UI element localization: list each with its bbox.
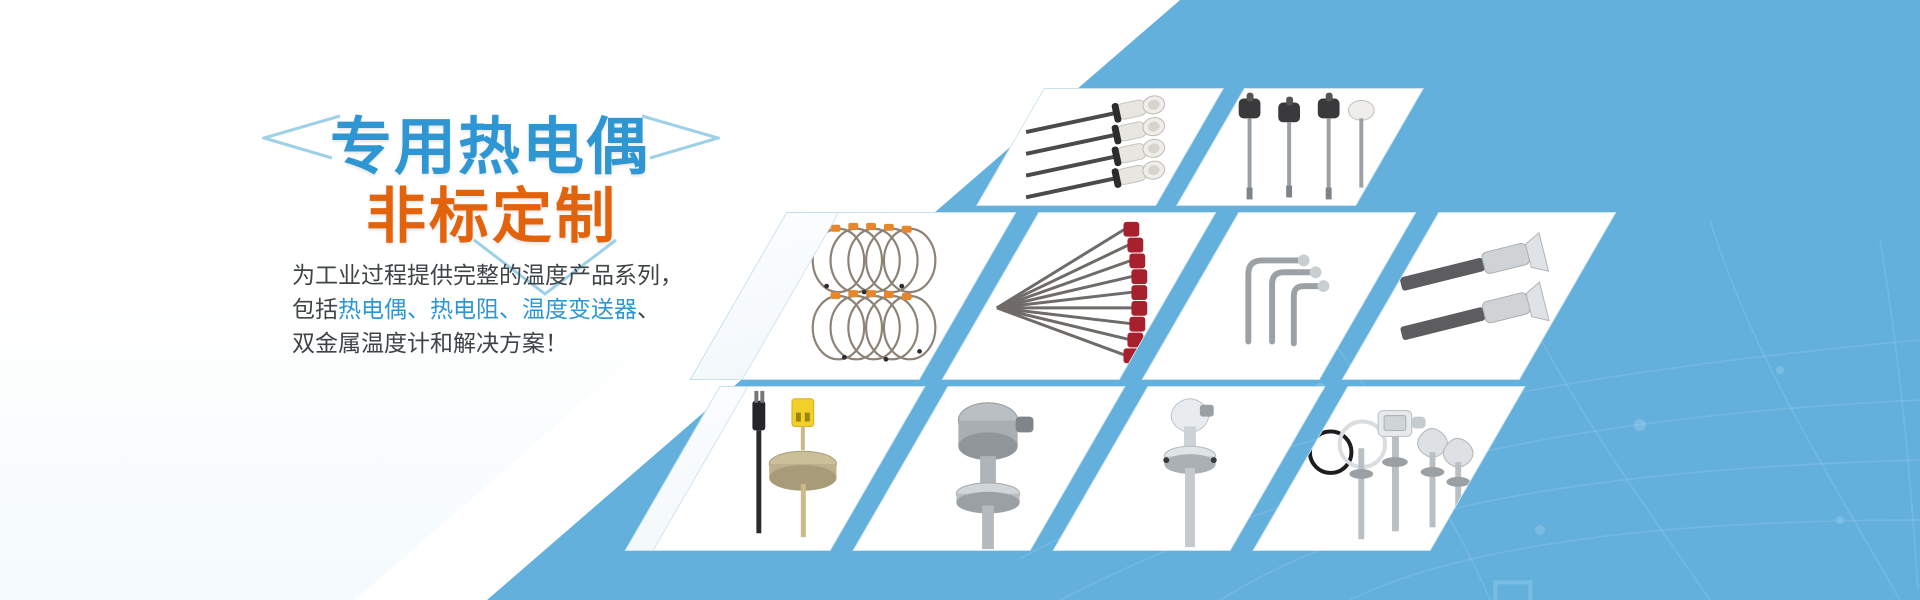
chevron-right-icon <box>640 112 720 162</box>
lede-text: 包括 <box>292 296 338 322</box>
lede-text: 双金属温度计和解决方案！ <box>292 330 568 356</box>
lede-line: 包括热电偶、热电阻、温度变送器、 <box>292 292 683 326</box>
handle-thermocouple-probes-photo <box>1211 88 1389 206</box>
lede-line: 双金属温度计和解决方案！ <box>292 326 683 360</box>
armored-thermocouple-probes-photo <box>1011 88 1189 206</box>
fan-thermocouple-connectors-photo <box>991 212 1167 380</box>
lede-highlight: 热电偶、热电阻、温度变送器 <box>338 296 637 322</box>
lede-paragraph: 为工业过程提供完整的温度产品系列，包括热电偶、热电阻、温度变送器、双金属温度计和… <box>292 258 683 360</box>
head-mounted-rtd-assembly-photo <box>901 386 1077 551</box>
lede-text: 为工业过程提供完整的温度产品系列， <box>292 262 683 288</box>
lede-text: 、 <box>637 296 660 322</box>
lede-line: 为工业过程提供完整的温度产品系列， <box>292 258 683 292</box>
flanged-temperature-sensors-photo <box>1391 212 1567 380</box>
promo-banner: 专用热电偶 非标定制 为工业过程提供完整的温度产品系列，包括热电偶、热电阻、温度… <box>0 0 1920 600</box>
right-angle-thermocouples-photo <box>1191 212 1367 380</box>
flange-mounted-probe-photo <box>1101 386 1277 551</box>
headline-secondary: 非标定制 <box>366 168 618 255</box>
headline-block: 专用热电偶 非标定制 为工业过程提供完整的温度产品系列，包括热电偶、热电阻、温度… <box>0 0 760 600</box>
transmitter-probe-group-photo <box>1301 386 1477 551</box>
